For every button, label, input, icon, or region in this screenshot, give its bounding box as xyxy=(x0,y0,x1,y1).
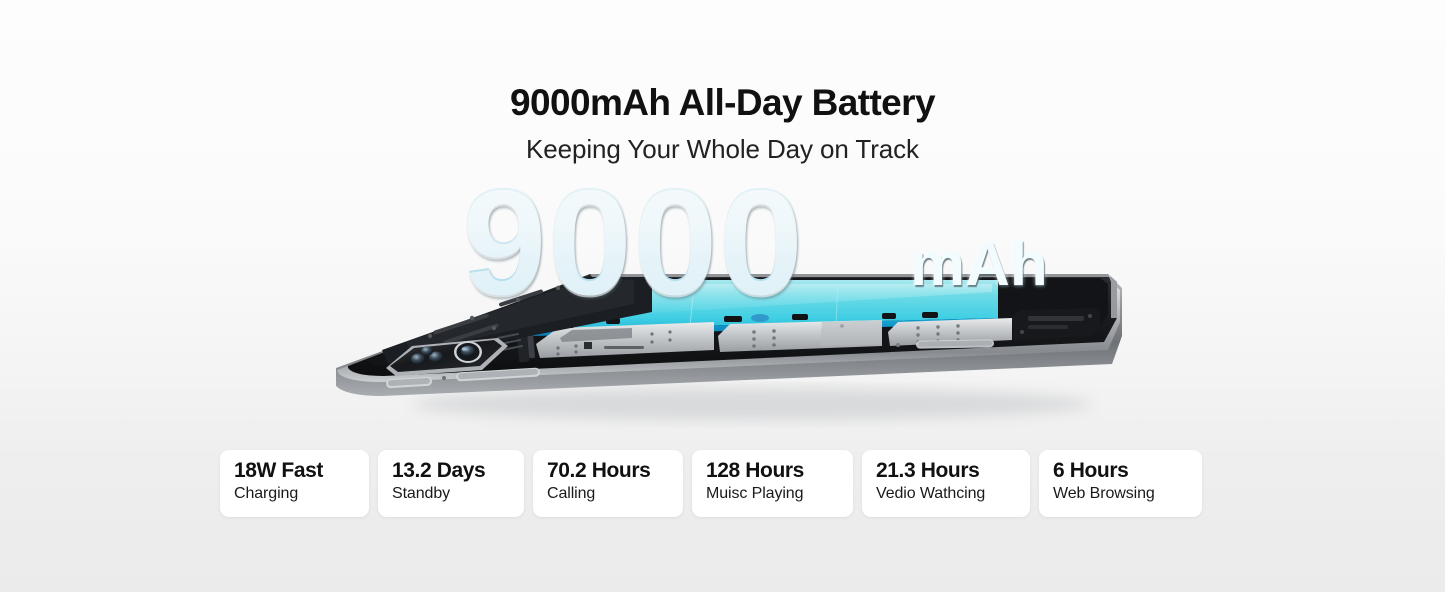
stat-card[interactable]: 13.2 Days Standby xyxy=(378,450,524,517)
hero-stage: 9000 mAh xyxy=(0,170,1445,435)
stat-card[interactable]: 21.3 Hours Vedio Wathcing xyxy=(862,450,1030,517)
page-subtitle: Keeping Your Whole Day on Track xyxy=(0,132,1445,166)
stat-label: Web Browsing xyxy=(1053,484,1202,504)
stat-value: 18W Fast xyxy=(234,458,369,483)
stat-label: Muisc Playing xyxy=(706,484,853,504)
stat-card-list: 18W Fast Charging 13.2 Days Standby 70.2… xyxy=(220,450,1205,517)
stat-label: Standby xyxy=(392,484,524,504)
stat-label: Vedio Wathcing xyxy=(876,484,1030,504)
stat-card[interactable]: 18W Fast Charging xyxy=(220,450,369,517)
page-title: 9000mAh All-Day Battery xyxy=(0,80,1445,126)
stat-value: 13.2 Days xyxy=(392,458,524,483)
stat-label: Calling xyxy=(547,484,683,504)
device-illustration xyxy=(322,218,1127,428)
stat-value: 70.2 Hours xyxy=(547,458,683,483)
stat-card[interactable]: 70.2 Hours Calling xyxy=(533,450,683,517)
stat-value: 6 Hours xyxy=(1053,458,1202,483)
stat-value: 21.3 Hours xyxy=(876,458,1030,483)
stat-card[interactable]: 128 Hours Muisc Playing xyxy=(692,450,853,517)
stat-value: 128 Hours xyxy=(706,458,853,483)
battery-promo-banner: 9000mAh All-Day Battery Keeping Your Who… xyxy=(0,0,1445,592)
stat-card[interactable]: 6 Hours Web Browsing xyxy=(1039,450,1202,517)
stat-label: Charging xyxy=(234,484,369,504)
